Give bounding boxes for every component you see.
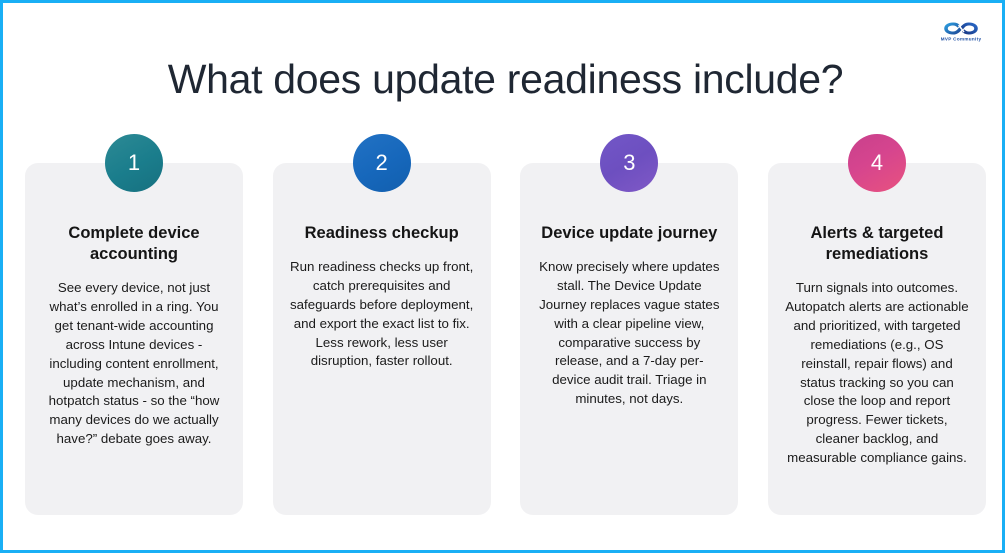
card-title: Alerts & targeted remediations — [781, 223, 973, 265]
page-title: What does update readiness include? — [3, 56, 1005, 103]
card-body-text: Run readiness checks up front, catch pre… — [286, 258, 478, 371]
card-number-badge: 3 — [600, 134, 658, 192]
card-number-badge: 4 — [848, 134, 906, 192]
card-body-text: Know precisely where updates stall. The … — [533, 258, 725, 409]
feature-card-2: 2 Readiness checkup Run readiness checks… — [273, 163, 491, 515]
card-number-badge: 2 — [353, 134, 411, 192]
infinity-logo-icon — [943, 20, 979, 37]
feature-card-4: 4 Alerts & targeted remediations Turn si… — [768, 163, 986, 515]
card-title: Device update journey — [533, 223, 725, 244]
logo-wordmark: MVP Community — [941, 38, 982, 43]
card-body-text: Turn signals into outcomes. Autopatch al… — [781, 279, 973, 468]
feature-card-row: 1 Complete device accounting See every d… — [25, 163, 986, 515]
card-body-text: See every device, not just what’s enroll… — [38, 279, 230, 449]
feature-card-1: 1 Complete device accounting See every d… — [25, 163, 243, 515]
card-title: Readiness checkup — [286, 223, 478, 244]
feature-card-3: 3 Device update journey Know precisely w… — [520, 163, 738, 515]
card-number-badge: 1 — [105, 134, 163, 192]
brand-logo: MVP Community — [939, 20, 983, 52]
slide-canvas: What does update readiness include? MVP … — [0, 0, 1005, 553]
card-title: Complete device accounting — [38, 223, 230, 265]
